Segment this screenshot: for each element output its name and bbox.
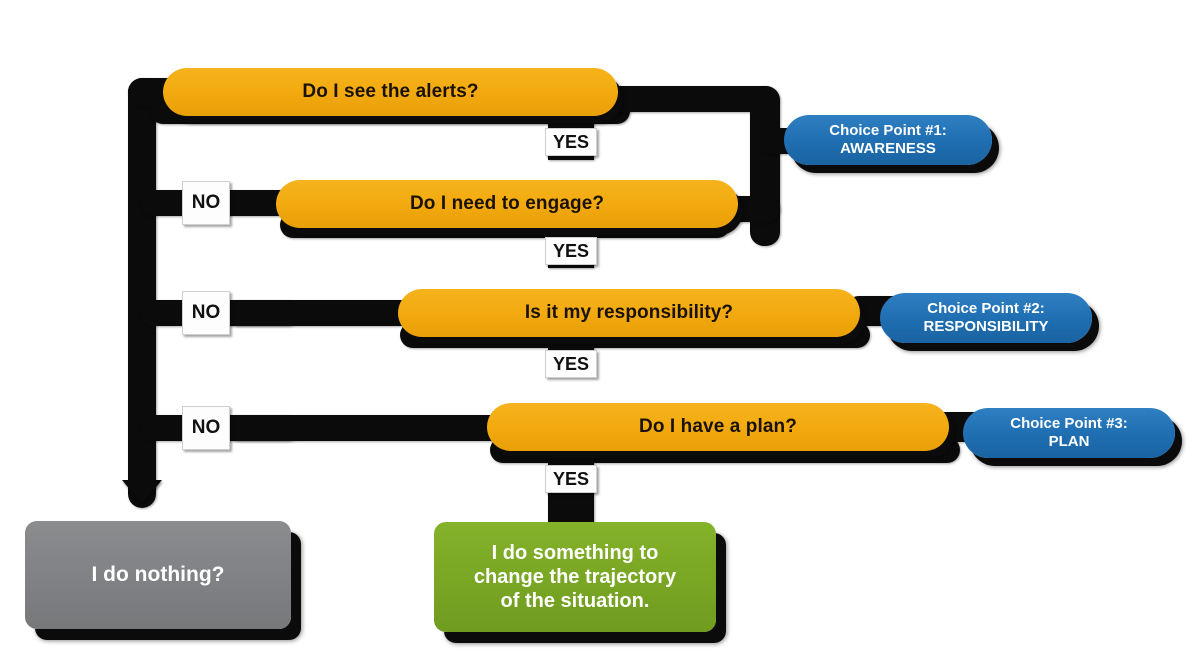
edge-label-yes-2: YES xyxy=(545,237,597,265)
outcome-node-do-nothing[interactable]: I do nothing? xyxy=(25,521,291,629)
outcome-positive-line2: change the trajectory xyxy=(474,565,676,589)
question-node-q1[interactable]: Do I see the alerts? xyxy=(163,68,618,116)
edge-label-yes-1: YES xyxy=(545,128,597,156)
choice-point-3-line2: PLAN xyxy=(1049,433,1090,451)
choice-point-node-1[interactable]: Choice Point #1: AWARENESS xyxy=(784,115,992,165)
connector-left-rail xyxy=(128,78,156,508)
connector-q3-no-extension xyxy=(225,300,425,326)
choice-point-2-line2: RESPONSIBILITY xyxy=(923,318,1048,336)
question-node-q4[interactable]: Do I have a plan? xyxy=(487,403,949,451)
connector-q4-no-extension xyxy=(225,415,515,441)
question-node-q2[interactable]: Do I need to engage? xyxy=(276,180,738,228)
edge-label-yes-4: YES xyxy=(545,465,597,493)
edge-label-no-1: NO xyxy=(182,181,230,225)
outcome-positive-line3: of the situation. xyxy=(501,589,650,613)
choice-point-node-2[interactable]: Choice Point #2: RESPONSIBILITY xyxy=(880,293,1092,343)
choice-point-2-line1: Choice Point #2: xyxy=(927,300,1045,318)
edge-label-no-2: NO xyxy=(182,291,230,335)
choice-point-1-line1: Choice Point #1: xyxy=(829,122,947,140)
choice-point-1-line2: AWARENESS xyxy=(840,140,936,158)
choice-point-3-line1: Choice Point #3: xyxy=(1010,415,1128,433)
connector-cp1-bracket xyxy=(750,86,780,246)
outcome-positive-line1: I do something to xyxy=(492,541,659,565)
edge-label-yes-3: YES xyxy=(545,350,597,378)
question-node-q3[interactable]: Is it my responsibility? xyxy=(398,289,860,337)
edge-label-no-3: NO xyxy=(182,406,230,450)
flowchart-canvas: Do I see the alerts? Do I need to engage… xyxy=(0,0,1200,667)
outcome-node-do-something[interactable]: I do something to change the trajectory … xyxy=(434,522,716,632)
connector-rail-arrowhead xyxy=(122,480,162,504)
choice-point-node-3[interactable]: Choice Point #3: PLAN xyxy=(963,408,1175,458)
